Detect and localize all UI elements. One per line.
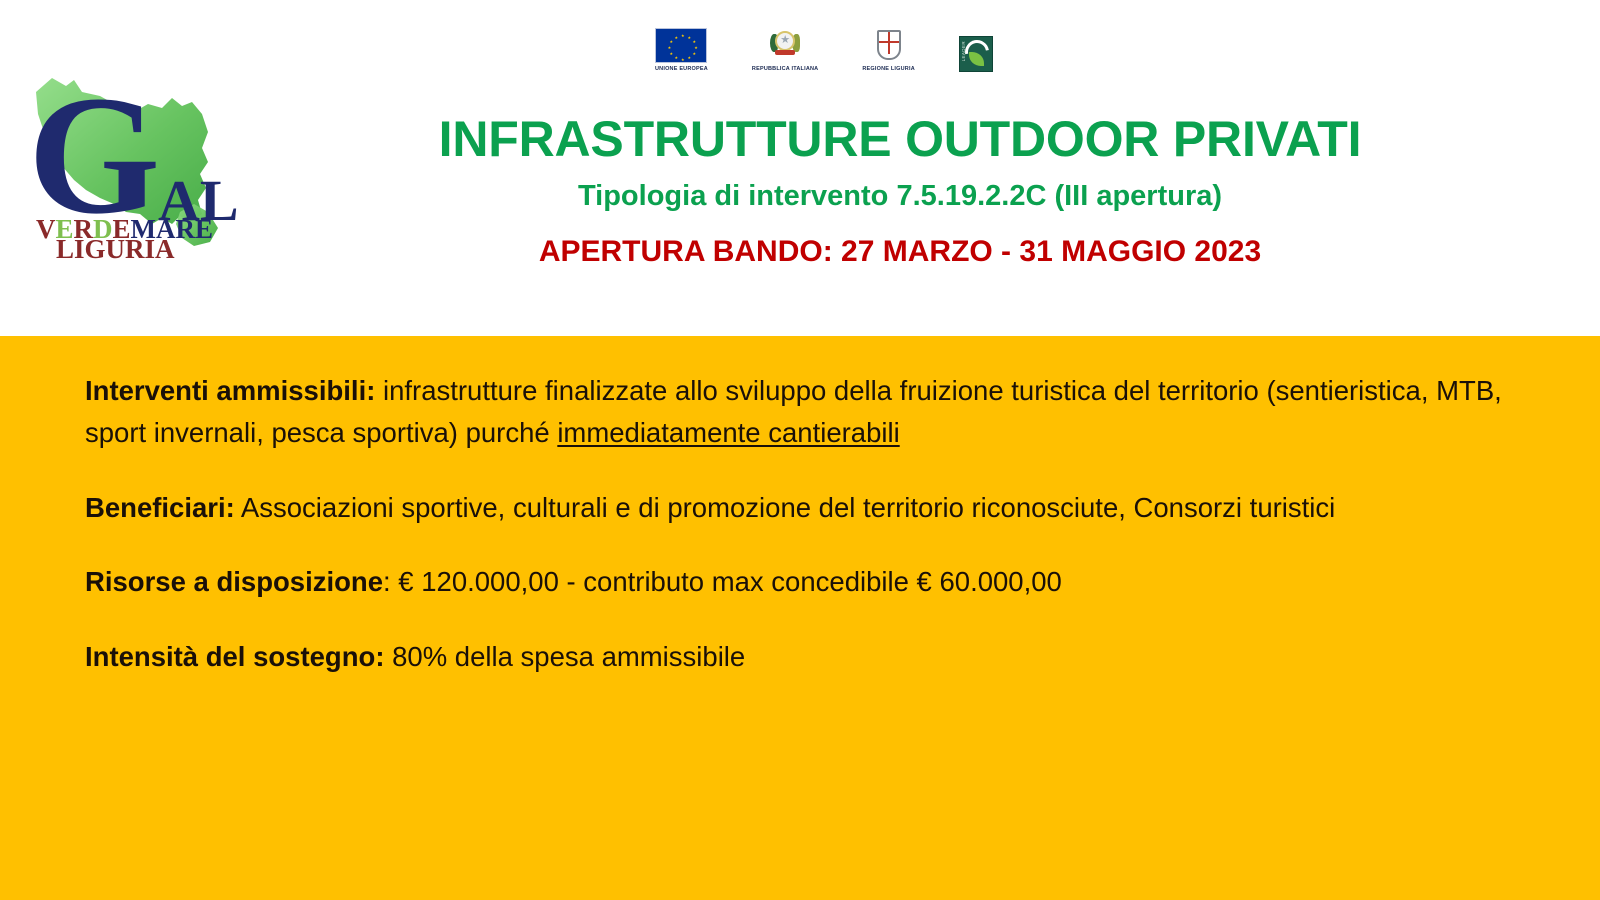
institutional-logo-strip: ★ ★ ★ ★ ★ ★ ★ ★ ★ ★ ★ ★ UNIONE EUROPEA bbox=[655, 28, 993, 72]
eu-logo: ★ ★ ★ ★ ★ ★ ★ ★ ★ ★ ★ ★ UNIONE EUROPEA bbox=[655, 28, 708, 72]
paragraph-label: Risorse a disposizione bbox=[85, 566, 383, 597]
paragraph-underlined-text: immediatamente cantierabili bbox=[557, 417, 899, 448]
page-title: INFRASTRUTTURE OUTDOOR PRIVATI bbox=[250, 112, 1550, 166]
body-panel: Interventi ammissibili: infrastrutture f… bbox=[0, 336, 1600, 900]
paragraph-label: Beneficiari: bbox=[85, 492, 235, 523]
regione-liguria-shield-icon bbox=[875, 29, 903, 63]
paragraph-interventi-ammissibili: Interventi ammissibili: infrastrutture f… bbox=[85, 370, 1545, 454]
paragraph-intensita-del-sostegno: Intensità del sostegno: 80% della spesa … bbox=[85, 636, 1545, 678]
body-content: Interventi ammissibili: infrastrutture f… bbox=[85, 370, 1545, 678]
bando-date-line: APERTURA BANDO: 27 MARZO - 31 MAGGIO 202… bbox=[250, 235, 1550, 270]
italian-republic-caption: REPUBBLICA ITALIANA bbox=[752, 66, 818, 72]
paragraph-beneficiari: Beneficiari: Associazioni sportive, cult… bbox=[85, 487, 1545, 529]
eu-logo-caption: UNIONE EUROPEA bbox=[655, 66, 708, 72]
poster-page: ★ ★ ★ ★ ★ ★ ★ ★ ★ ★ ★ ★ UNIONE EUROPEA bbox=[0, 0, 1600, 900]
paragraph-label: Intensità del sostegno: bbox=[85, 641, 384, 672]
paragraph-label: Interventi ammissibili: bbox=[85, 375, 375, 406]
paragraph-text: 80% della spesa ammissibile bbox=[384, 641, 745, 672]
title-block: INFRASTRUTTURE OUTDOOR PRIVATI Tipologia… bbox=[250, 112, 1550, 270]
gal-verdemare-liguria-logo: G AL VERDEMARE LIGURIA bbox=[22, 62, 238, 260]
page-subtitle: Tipologia di intervento 7.5.19.2.2C (III… bbox=[250, 180, 1550, 213]
regione-liguria-caption: REGIONE LIGURIA bbox=[862, 66, 915, 72]
gal-word-liguria: LIGURIA bbox=[56, 234, 175, 260]
leader-logo: LEADER bbox=[959, 36, 993, 72]
paragraph-text: Associazioni sportive, culturali e di pr… bbox=[235, 492, 1335, 523]
italian-republic-logo: ★ REPUBBLICA ITALIANA bbox=[752, 28, 818, 72]
regione-liguria-logo: REGIONE LIGURIA bbox=[862, 29, 915, 72]
leader-logo-icon: LEADER bbox=[959, 36, 993, 72]
header-band: ★ ★ ★ ★ ★ ★ ★ ★ ★ ★ ★ ★ UNIONE EUROPEA bbox=[0, 0, 1600, 336]
italian-republic-emblem-icon: ★ bbox=[769, 28, 801, 63]
paragraph-text: : € 120.000,00 - contributo max concedib… bbox=[383, 566, 1062, 597]
paragraph-risorse-a-disposizione: Risorse a disposizione: € 120.000,00 - c… bbox=[85, 561, 1545, 603]
eu-flag-icon: ★ ★ ★ ★ ★ ★ ★ ★ ★ ★ ★ ★ bbox=[655, 28, 707, 63]
